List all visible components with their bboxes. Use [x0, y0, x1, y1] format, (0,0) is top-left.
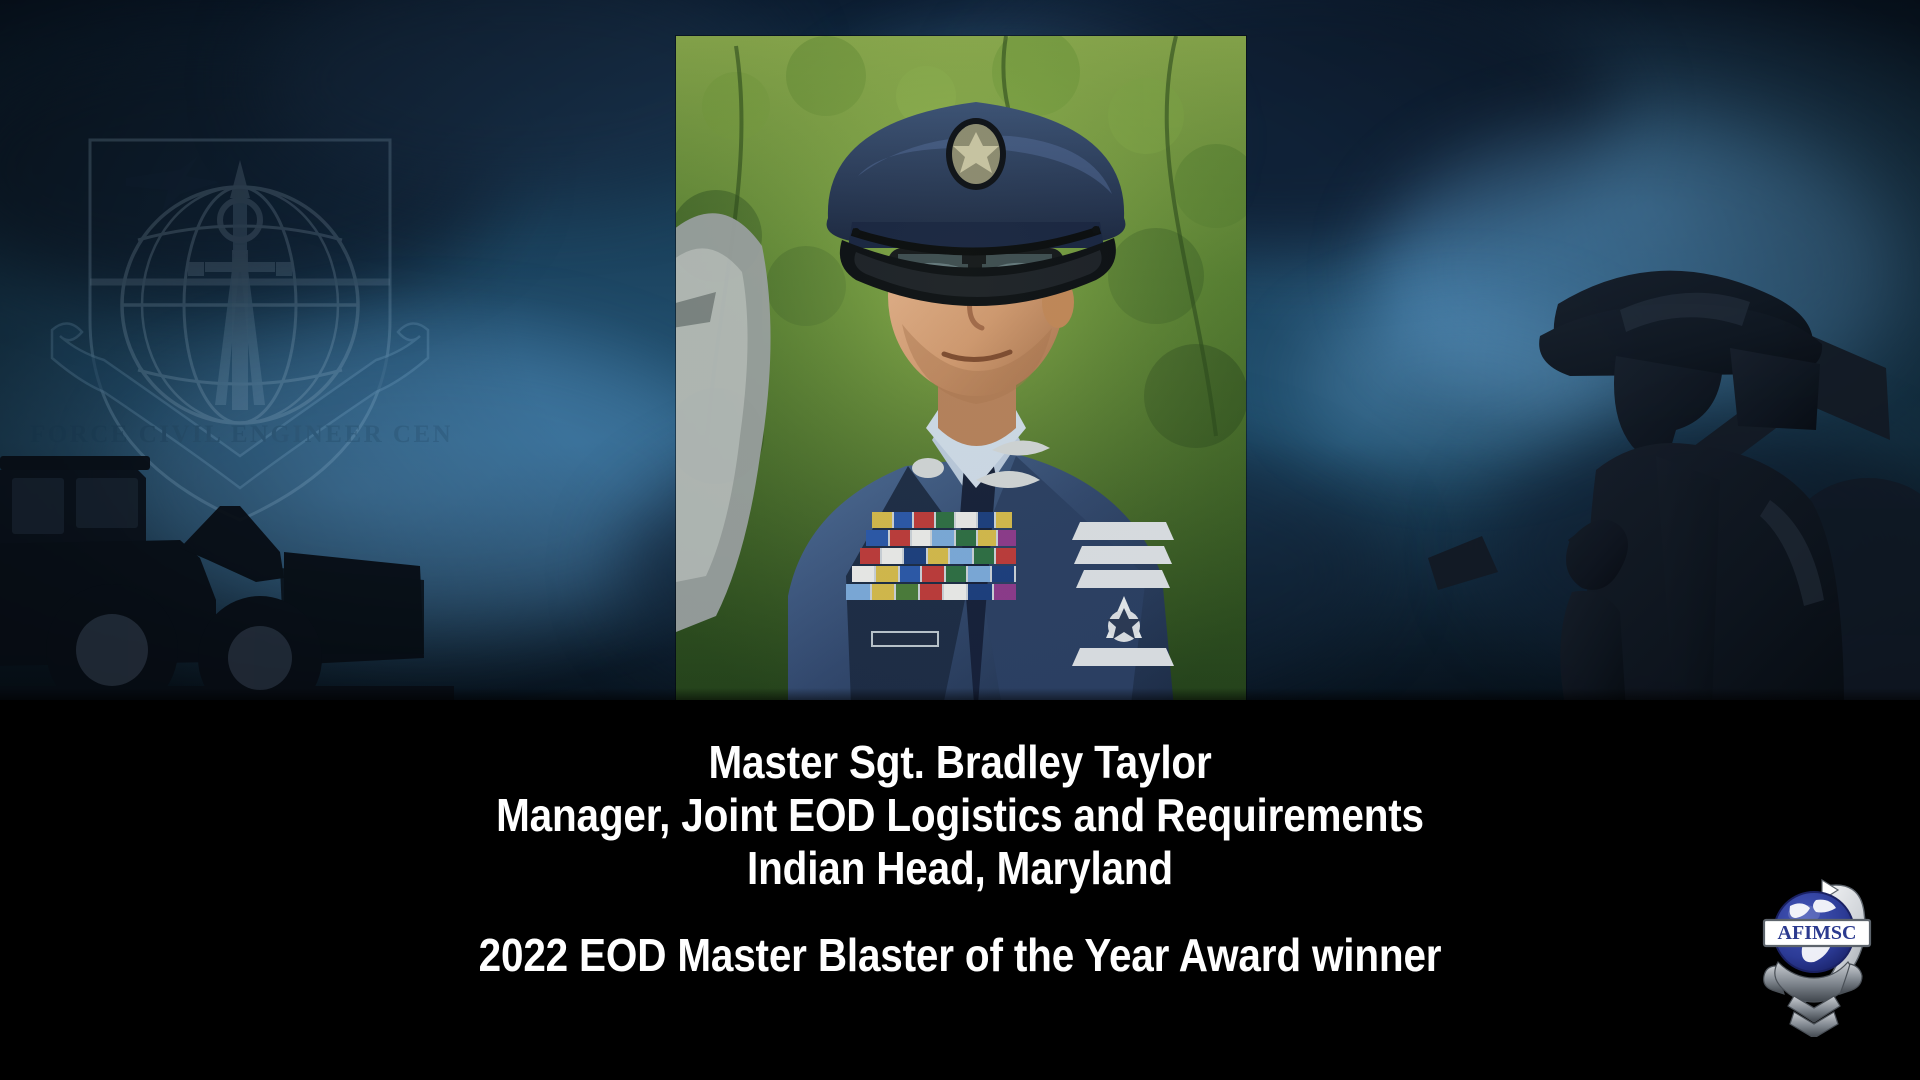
shield-banner-text: AIR FORCE CIVIL ENGINEER CENTER [30, 421, 450, 448]
firefighter-silhouette [1420, 240, 1920, 710]
subject-location-line: Indian Head, Maryland [115, 842, 1805, 895]
portrait-photo [676, 36, 1246, 730]
front-loader-silhouette [0, 448, 454, 718]
afimsc-nameplate: AFIMSC [1764, 920, 1870, 946]
caption-block: Master Sgt. Bradley Taylor Manager, Join… [0, 736, 1920, 982]
afimsc-wordmark: AFIMSC [1778, 922, 1857, 944]
subject-role-line: Manager, Joint EOD Logistics and Require… [115, 789, 1805, 842]
afimsc-logo: AFIMSC [1742, 862, 1902, 1037]
subject-name-line: Master Sgt. Bradley Taylor [115, 736, 1805, 789]
graphic-canvas: AIR FORCE CIVIL ENGINEER CENTER [0, 0, 1920, 1080]
award-title-line: 2022 EOD Master Blaster of the Year Awar… [115, 929, 1805, 982]
